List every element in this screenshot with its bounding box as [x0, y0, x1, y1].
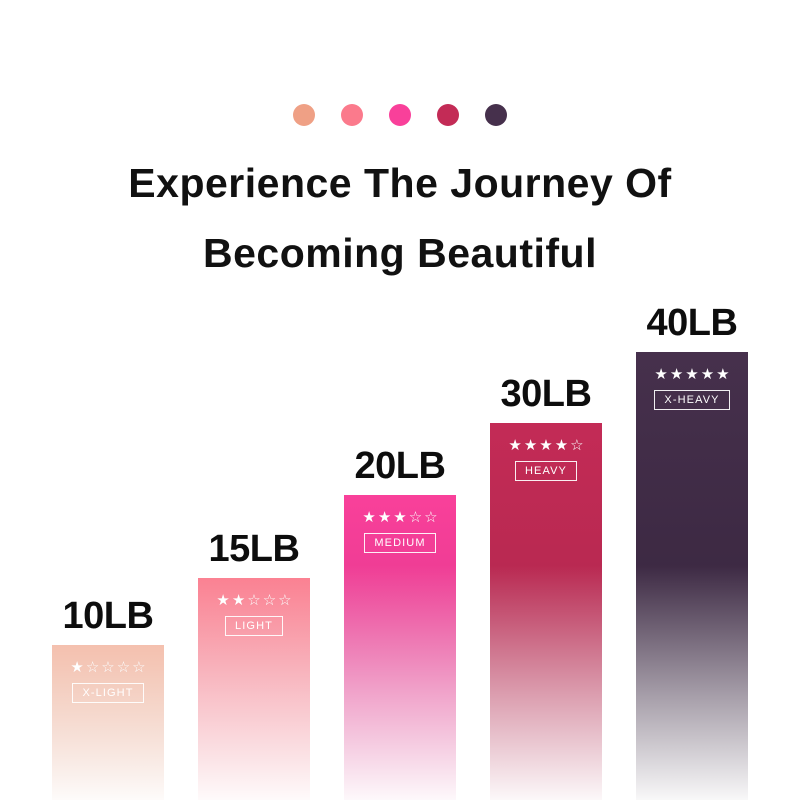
- star-filled-icon: ★: [555, 437, 568, 454]
- star-rating: ★★★★★: [654, 366, 729, 383]
- bar-fill: [636, 352, 748, 800]
- star-filled-icon: ★: [393, 509, 406, 526]
- bar-20lb[interactable]: ★★★☆☆MEDIUM: [344, 495, 456, 800]
- bar-30lb[interactable]: ★★★★☆HEAVY: [490, 423, 602, 800]
- star-rating: ★★★☆☆: [362, 509, 437, 526]
- resistance-level-label: X-LIGHT: [72, 683, 143, 703]
- star-empty-icon: ☆: [247, 592, 260, 609]
- star-empty-icon: ☆: [570, 437, 583, 454]
- star-filled-icon: ★: [654, 366, 667, 383]
- star-filled-icon: ★: [378, 509, 391, 526]
- star-rating: ★★★★☆: [508, 437, 583, 454]
- bar-weight-label: 15LB: [184, 528, 324, 570]
- star-empty-icon: ☆: [101, 659, 114, 676]
- star-empty-icon: ☆: [117, 659, 130, 676]
- bar-10lb[interactable]: ★☆☆☆☆X-LIGHT: [52, 645, 164, 800]
- star-empty-icon: ☆: [424, 509, 437, 526]
- bar-badge: ★★★★☆HEAVY: [490, 437, 602, 481]
- star-rating: ★☆☆☆☆: [70, 659, 145, 676]
- star-empty-icon: ☆: [86, 659, 99, 676]
- star-filled-icon: ★: [701, 366, 714, 383]
- bar-weight-label: 10LB: [38, 595, 178, 637]
- star-filled-icon: ★: [685, 366, 698, 383]
- star-filled-icon: ★: [670, 366, 683, 383]
- star-empty-icon: ☆: [278, 592, 291, 609]
- bar-weight-label: 40LB: [622, 302, 762, 344]
- bar-column-30lb[interactable]: 30LB★★★★☆HEAVY: [490, 0, 602, 800]
- star-empty-icon: ☆: [132, 659, 145, 676]
- bar-column-10lb[interactable]: 10LB★☆☆☆☆X-LIGHT: [52, 0, 164, 800]
- resistance-level-label: HEAVY: [515, 461, 577, 481]
- resistance-level-label: X-HEAVY: [654, 390, 729, 410]
- bar-weight-label: 20LB: [330, 445, 470, 487]
- star-filled-icon: ★: [232, 592, 245, 609]
- promo-graphic: Experience The Journey Of Becoming Beaut…: [0, 0, 800, 800]
- star-rating: ★★☆☆☆: [216, 592, 291, 609]
- bar-badge: ★☆☆☆☆X-LIGHT: [52, 659, 164, 703]
- star-empty-icon: ☆: [263, 592, 276, 609]
- resistance-band-bar-chart: 10LB★☆☆☆☆X-LIGHT15LB★★☆☆☆LIGHT20LB★★★☆☆M…: [52, 0, 748, 800]
- star-filled-icon: ★: [524, 437, 537, 454]
- bar-badge: ★★★☆☆MEDIUM: [344, 509, 456, 553]
- bar-column-15lb[interactable]: 15LB★★☆☆☆LIGHT: [198, 0, 310, 800]
- bar-weight-label: 30LB: [476, 373, 616, 415]
- bar-column-40lb[interactable]: 40LB★★★★★X-HEAVY: [636, 0, 748, 800]
- bar-badge: ★★★★★X-HEAVY: [636, 366, 748, 410]
- star-filled-icon: ★: [70, 659, 83, 676]
- star-filled-icon: ★: [508, 437, 521, 454]
- star-filled-icon: ★: [716, 366, 729, 383]
- star-empty-icon: ☆: [409, 509, 422, 526]
- resistance-level-label: MEDIUM: [364, 533, 435, 553]
- bar-column-20lb[interactable]: 20LB★★★☆☆MEDIUM: [344, 0, 456, 800]
- star-filled-icon: ★: [216, 592, 229, 609]
- resistance-level-label: LIGHT: [225, 616, 283, 636]
- bar-badge: ★★☆☆☆LIGHT: [198, 592, 310, 636]
- star-filled-icon: ★: [362, 509, 375, 526]
- bar-15lb[interactable]: ★★☆☆☆LIGHT: [198, 578, 310, 800]
- bar-40lb[interactable]: ★★★★★X-HEAVY: [636, 352, 748, 800]
- star-filled-icon: ★: [539, 437, 552, 454]
